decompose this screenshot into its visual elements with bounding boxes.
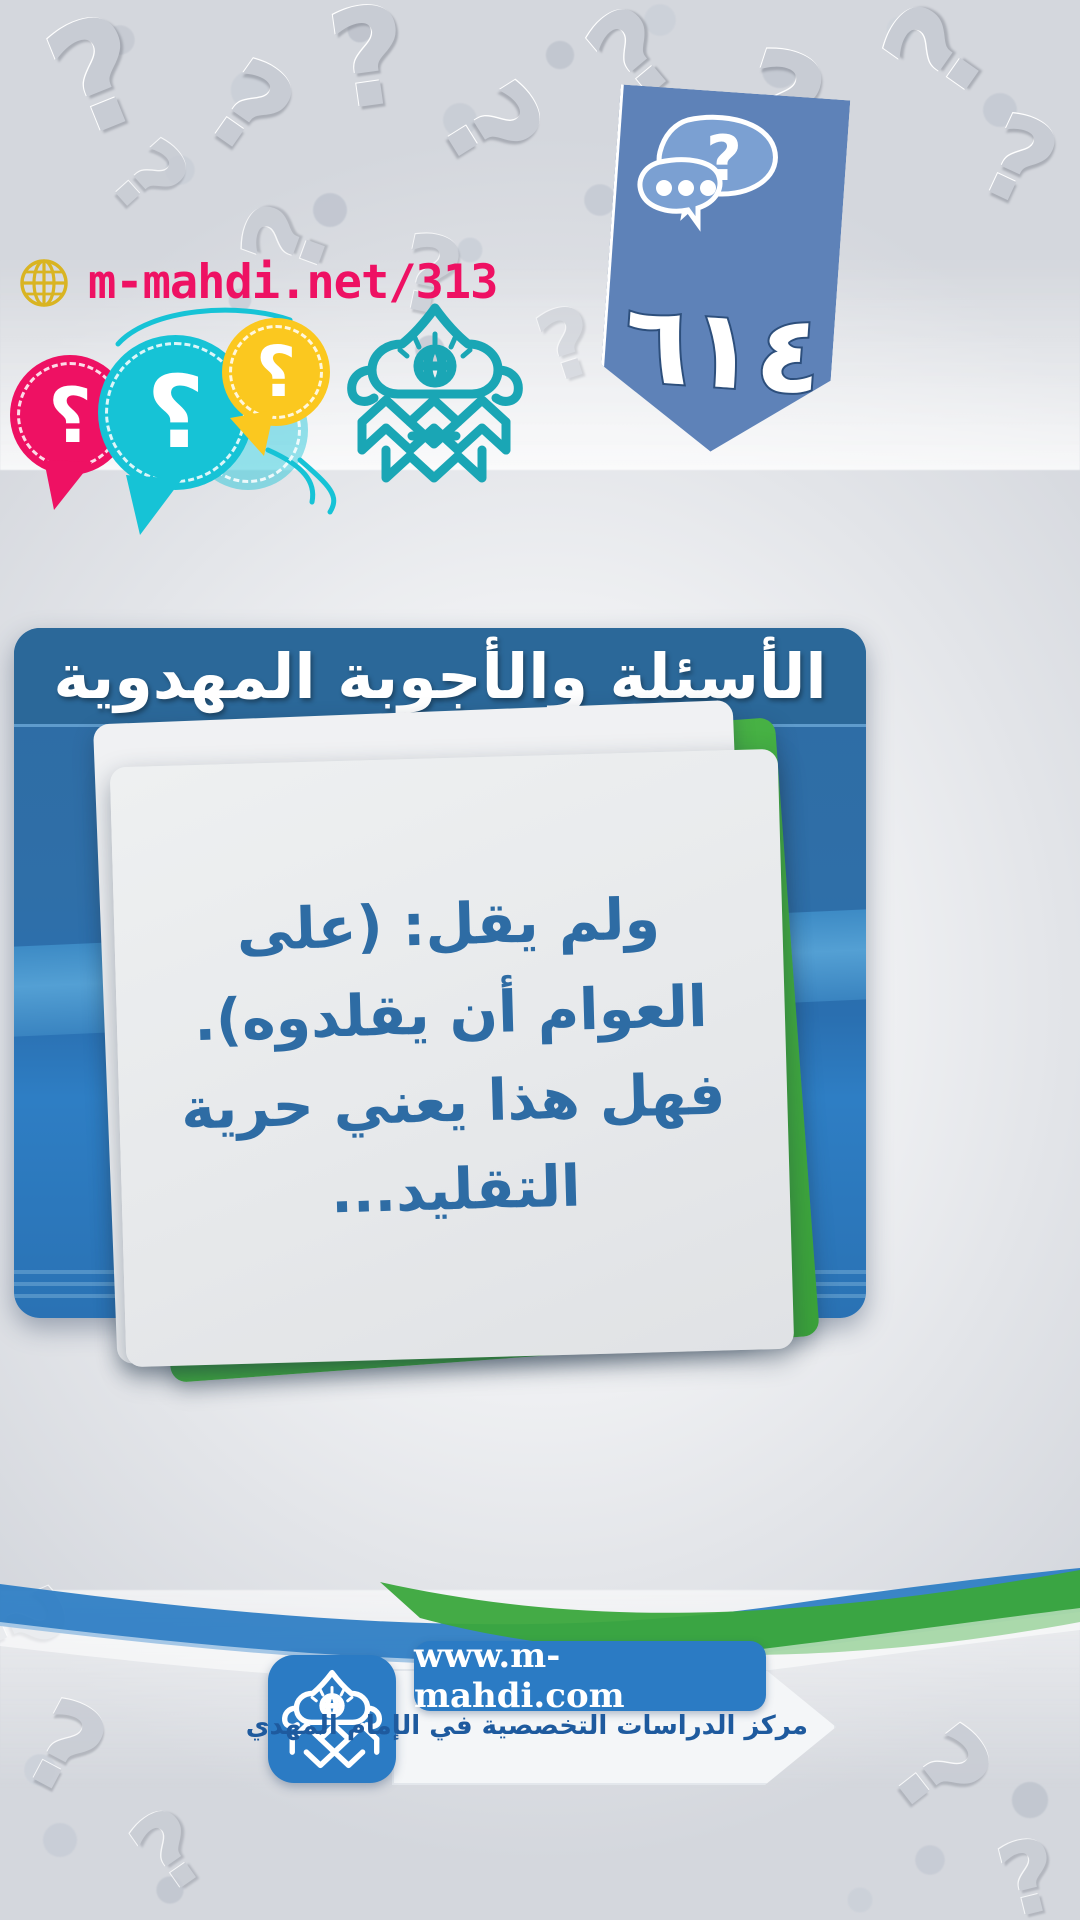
bubble-teal-glyph: ؟: [146, 354, 204, 471]
footer: www.m-mahdi.com مركز الدراسات التخصصية ف…: [268, 1655, 828, 1805]
question-number-badge: ? ٦١٤: [608, 92, 838, 452]
mosque-globe-emblem-icon: [340, 300, 530, 500]
footer-url-badge[interactable]: www.m-mahdi.com: [414, 1641, 766, 1711]
speech-bubbles-icon: ?: [636, 114, 786, 234]
question-card: ولم يقل: (على العوام أن يقلدوه). فهل هذا…: [110, 749, 794, 1367]
question-line: ولم يقل: (على: [147, 873, 749, 978]
bubble-yellow-glyph: ؟: [256, 331, 297, 413]
question-line: التقليد...: [155, 1138, 757, 1243]
bubble-yellow-tail: [224, 408, 280, 460]
bubble-teal-tail: [120, 475, 190, 537]
bubble-pink-glyph: ؟: [48, 371, 92, 460]
bubble-pink-tail: [40, 460, 100, 512]
badge-number-text: ٦١٤: [604, 280, 842, 421]
poster-root: ? ? ? ? ? ? ? ? ? ? ? ? ? ? ? ? ? m-mahd…: [0, 0, 1080, 1920]
question-card-text: ولم يقل: (على العوام أن يقلدوه). فهل هذا…: [113, 872, 791, 1244]
footer-organization-name: مركز الدراسات التخصصية في الإمام المهدي: [408, 1711, 808, 1741]
question-line: فهل هذا يعني حرية: [152, 1050, 754, 1155]
footer-url-text[interactable]: www.m-mahdi.com: [414, 1636, 766, 1716]
question-line: العوام أن يقلدوه).: [150, 961, 752, 1066]
